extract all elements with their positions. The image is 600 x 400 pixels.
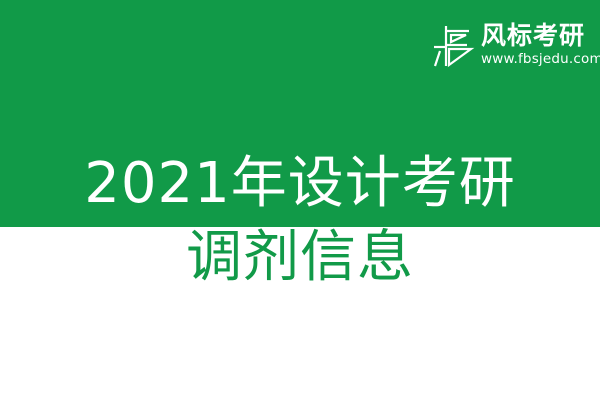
poster-canvas: 风标考研 www.fbsjedu.com 2021年设计考研 调剂信息 bbox=[0, 0, 600, 400]
headline-line-secondary: 调剂信息 bbox=[0, 229, 600, 287]
headline-group: 2021年设计考研 调剂信息 bbox=[0, 0, 600, 400]
headline-line-primary: 2021年设计考研 bbox=[0, 155, 600, 213]
